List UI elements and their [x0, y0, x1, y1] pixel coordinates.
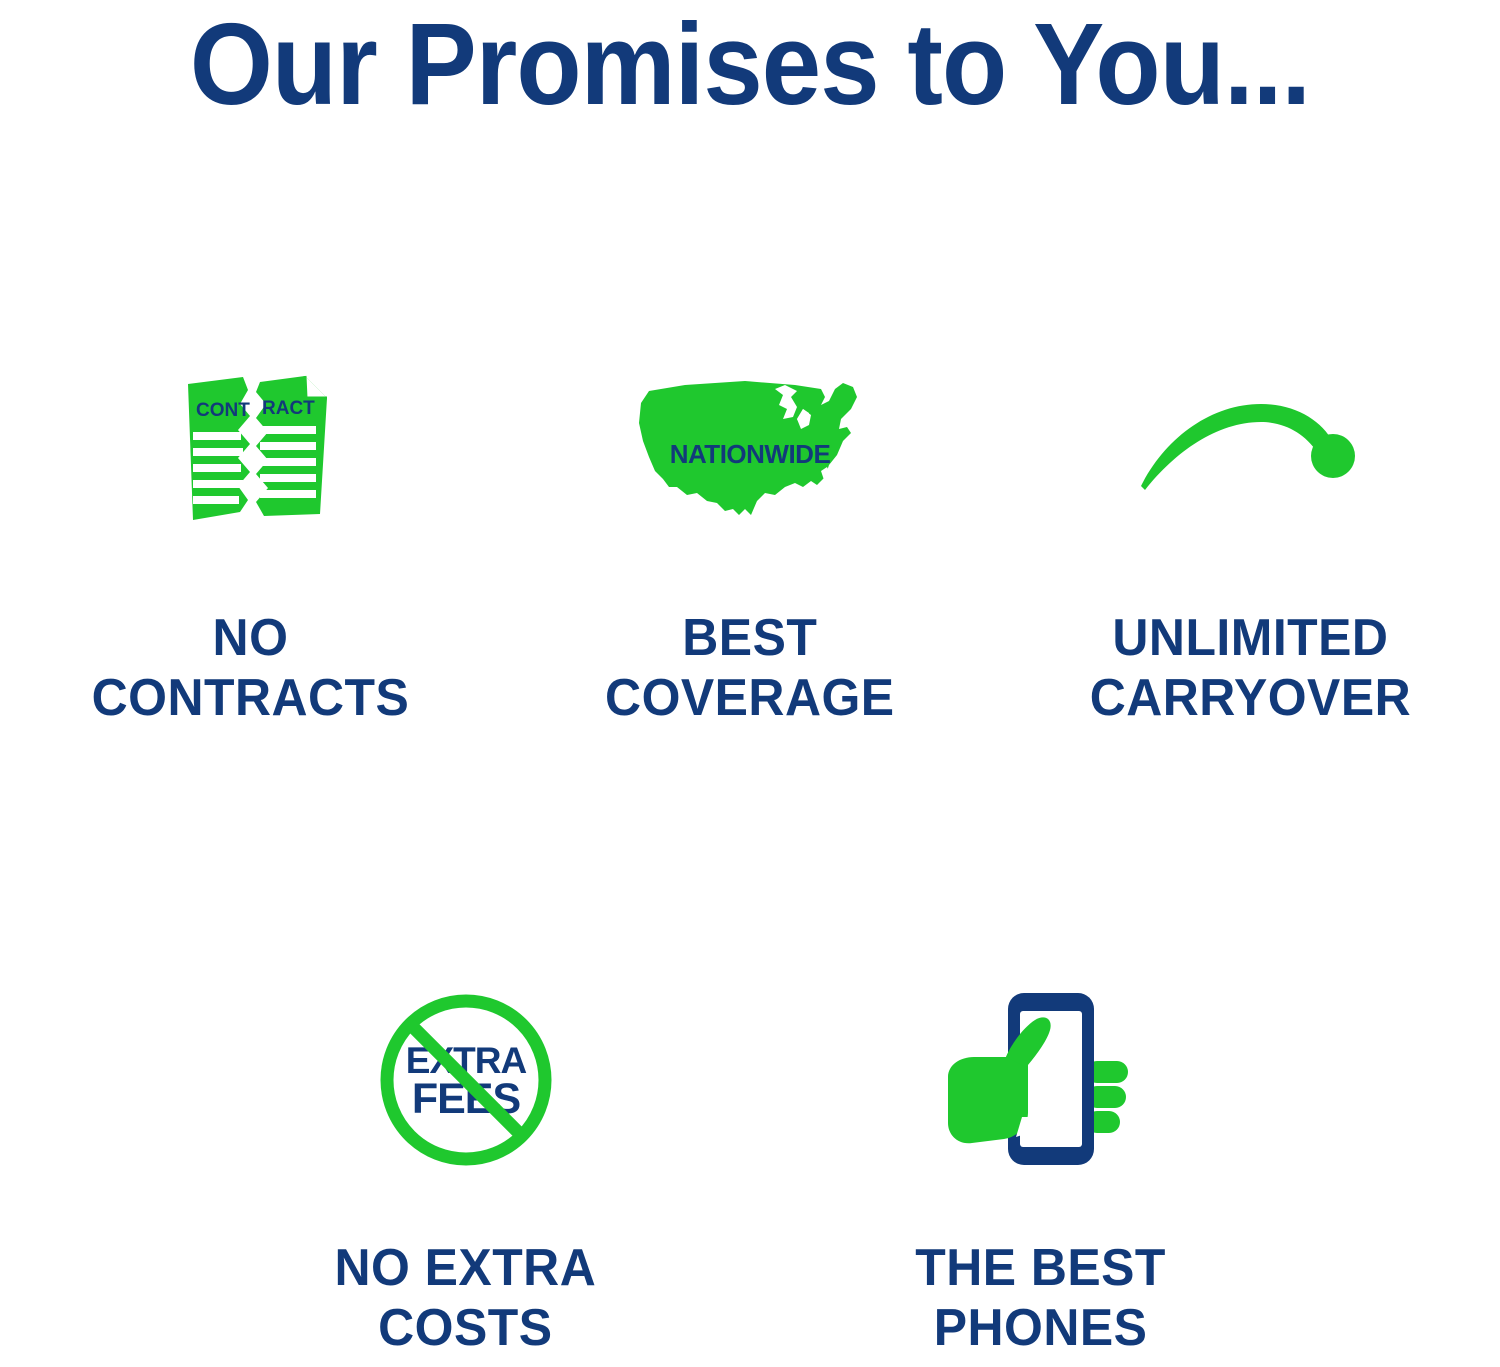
promise-label-line2: PHONES	[915, 1298, 1166, 1358]
promise-label-no-contracts: NO CONTRACTS	[91, 608, 409, 728]
promises-row-top: CONT RACT NO CONTRACTS NATIONWIDE	[0, 330, 1500, 728]
page-title: Our Promises to You...	[60, 4, 1440, 124]
promise-label-line1: NO EXTRA	[335, 1239, 597, 1297]
promise-label-unlimited-carryover: UNLIMITED CARRYOVER	[1089, 608, 1410, 728]
promise-no-contracts: CONT RACT NO CONTRACTS	[0, 330, 500, 728]
promise-label-line1: THE BEST	[915, 1239, 1166, 1297]
torn-contract-icon: CONT RACT	[160, 330, 340, 570]
promise-the-best-phones: THE BEST PHONES	[753, 960, 1328, 1358]
promise-label-line2: COSTS	[335, 1298, 597, 1358]
promise-label-line1: UNLIMITED	[1112, 609, 1388, 667]
carryover-arc-icon	[1135, 330, 1365, 570]
promise-label-line1: NO	[212, 609, 288, 667]
promise-label-line2: COVERAGE	[605, 668, 895, 728]
promise-label-line2: CONTRACTS	[91, 668, 409, 728]
promises-page: Our Promises to You...	[0, 0, 1500, 1367]
nationwide-text: NATIONWIDE	[670, 439, 831, 469]
contract-text-left: CONT	[196, 400, 250, 421]
promise-label-best-coverage: BEST COVERAGE	[605, 608, 895, 728]
promise-label-line2: CARRYOVER	[1089, 668, 1410, 728]
promise-unlimited-carryover: UNLIMITED CARRYOVER	[1000, 330, 1500, 728]
promises-row-bottom: EXTRA FEES NO EXTRA COSTS	[0, 960, 1500, 1358]
promise-best-coverage: NATIONWIDE BEST COVERAGE	[500, 330, 1000, 728]
hand-holding-phone-icon	[936, 960, 1146, 1200]
contract-text-right: RACT	[262, 398, 315, 419]
promise-label-line1: BEST	[682, 609, 817, 667]
no-extra-fees-icon: EXTRA FEES	[371, 960, 561, 1200]
promise-no-extra-costs: EXTRA FEES NO EXTRA COSTS	[178, 960, 753, 1358]
promise-label-the-best-phones: THE BEST PHONES	[915, 1238, 1166, 1358]
usa-map-icon: NATIONWIDE	[625, 330, 875, 570]
promise-label-no-extra-costs: NO EXTRA COSTS	[335, 1238, 597, 1358]
